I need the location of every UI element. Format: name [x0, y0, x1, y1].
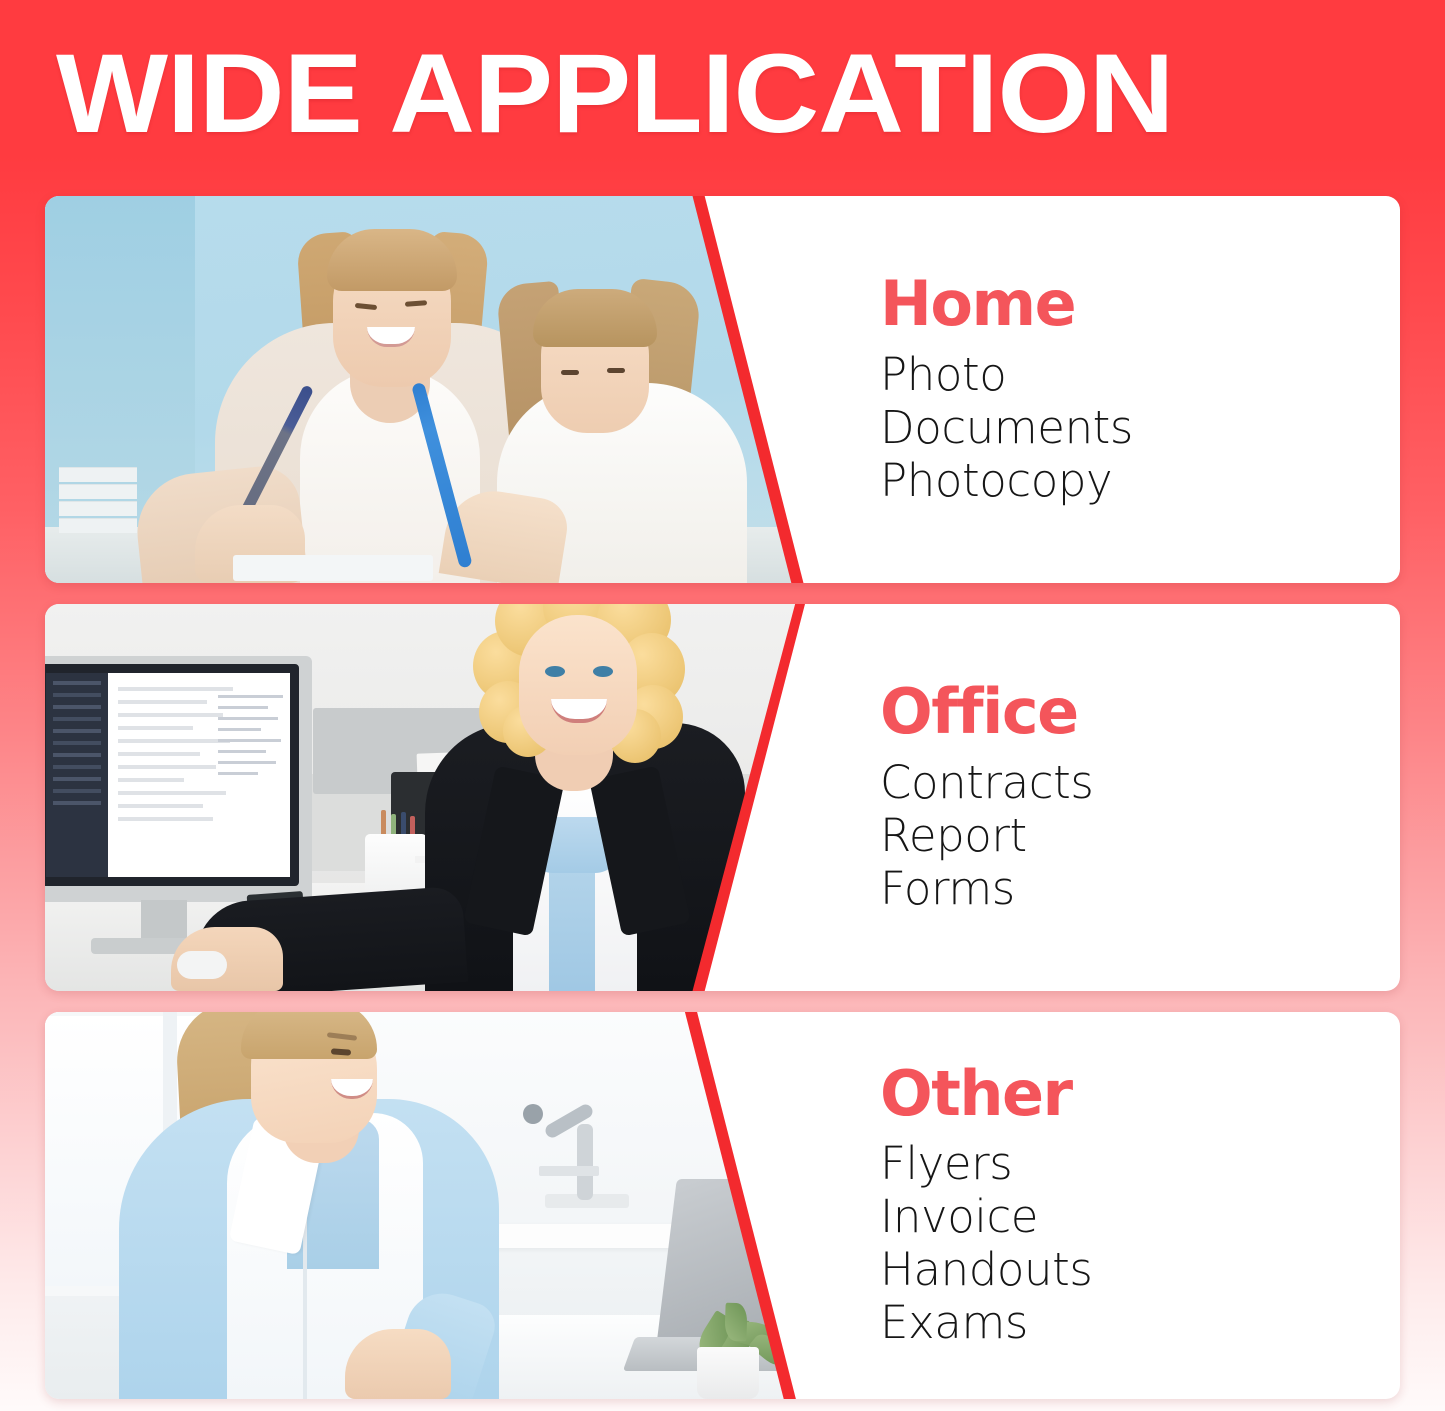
- card-text-pane-home: Home Photo Documents Photocopy: [840, 196, 1400, 583]
- scene-office-desk: [45, 604, 805, 991]
- woman-eye-right: [593, 666, 613, 677]
- scene-home-tutoring: [45, 196, 805, 583]
- card-photo-other: [45, 1012, 805, 1399]
- list-item: Invoice: [880, 1190, 1400, 1243]
- list-item: Contracts: [880, 756, 1400, 809]
- card-category-home: Home: [880, 272, 1400, 335]
- card-items-other: Flyers Invoice Handouts Exams: [880, 1137, 1400, 1349]
- card-category-office: Office: [880, 680, 1400, 743]
- page-title: WIDE APPLICATION: [56, 38, 1173, 150]
- pencil-cup-contents: [381, 810, 415, 836]
- child-eye-right: [607, 368, 625, 373]
- plant-leaf: [724, 1303, 747, 1342]
- card-items-home: Photo Documents Photocopy: [880, 348, 1400, 507]
- woman-eye-left: [545, 666, 565, 677]
- application-card-home[interactable]: Home Photo Documents Photocopy: [45, 196, 1400, 583]
- child-eye-left: [561, 370, 579, 375]
- plant-pot: [697, 1347, 759, 1399]
- card-photo-home: [45, 196, 805, 583]
- list-item: Photocopy: [880, 454, 1400, 507]
- document-column: [218, 695, 290, 783]
- monitor-stand: [141, 900, 187, 942]
- list-item: Forms: [880, 862, 1400, 915]
- card-photo-office: [45, 604, 805, 991]
- app-sidebar: [46, 673, 108, 877]
- monitor-screen: [45, 664, 299, 886]
- list-item: Flyers: [880, 1137, 1400, 1190]
- microscope-arm: [577, 1124, 593, 1200]
- blouse-ribbon: [549, 861, 595, 991]
- child-hair-top: [533, 289, 657, 347]
- application-card-office[interactable]: Office Contracts Report Forms: [45, 604, 1400, 991]
- list-item: Handouts: [880, 1243, 1400, 1296]
- list-item: Photo: [880, 348, 1400, 401]
- card-category-other: Other: [880, 1062, 1400, 1125]
- microscope-stage: [539, 1166, 599, 1176]
- books-stack: [59, 463, 137, 533]
- scene-laboratory: [45, 1012, 805, 1399]
- clasped-hands: [345, 1329, 451, 1399]
- application-card-list: Home Photo Documents Photocopy: [45, 196, 1400, 1399]
- notepad: [233, 555, 433, 581]
- list-item: Exams: [880, 1296, 1400, 1349]
- microscope-eyepiece: [523, 1104, 543, 1124]
- computer-mouse: [177, 951, 227, 979]
- card-text-pane-other: Other Flyers Invoice Handouts Exams: [840, 1012, 1400, 1399]
- list-item: Documents: [880, 401, 1400, 454]
- card-items-office: Contracts Report Forms: [880, 756, 1400, 915]
- page-header: WIDE APPLICATION: [0, 0, 1445, 178]
- list-item: Report: [880, 809, 1400, 862]
- woman-hair-top: [241, 1012, 377, 1059]
- adult-hair-top: [327, 229, 457, 291]
- application-card-other[interactable]: Other Flyers Invoice Handouts Exams: [45, 1012, 1400, 1399]
- card-text-pane-office: Office Contracts Report Forms: [840, 604, 1400, 991]
- woman-head: [519, 615, 637, 755]
